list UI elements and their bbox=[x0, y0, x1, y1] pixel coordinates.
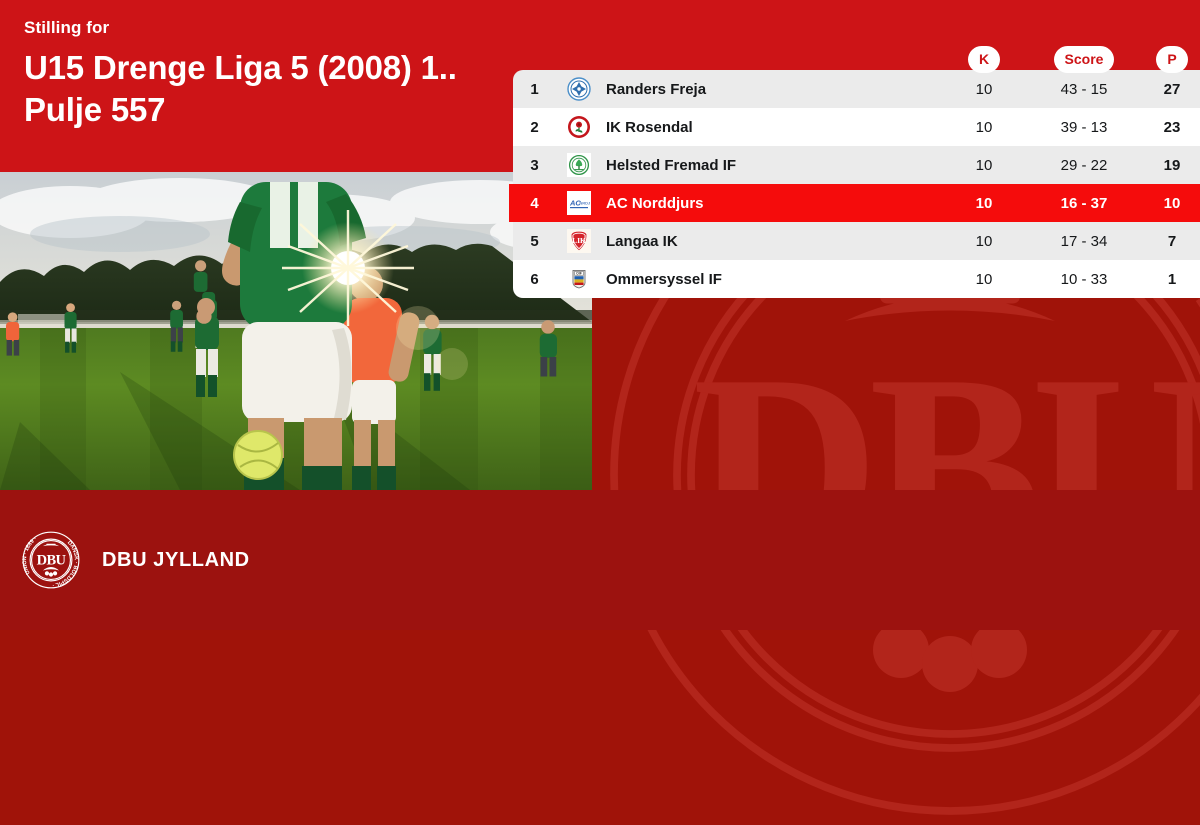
footer-org-name: DBU JYLLAND bbox=[102, 549, 250, 572]
table-row[interactable]: 6 OIF Ommersyssel IF 10 10 - 33 1 bbox=[513, 260, 1200, 298]
crest-randers-freja-icon bbox=[556, 77, 602, 101]
row-position: 4 bbox=[513, 195, 556, 212]
row-score: 43 - 15 bbox=[1024, 81, 1144, 98]
row-score: 39 - 13 bbox=[1024, 119, 1144, 136]
row-points: 23 bbox=[1144, 119, 1200, 136]
crest-ommersyssel-icon: OIF bbox=[556, 267, 602, 291]
row-matches-played: 10 bbox=[944, 157, 1024, 174]
crest-ik-rosendal-icon bbox=[556, 115, 602, 139]
column-header-score: Score bbox=[1024, 45, 1144, 73]
standings-table: 1 Randers Freja 10 43 - 15 27 2 bbox=[513, 70, 1200, 298]
row-score: 17 - 34 bbox=[1024, 233, 1144, 250]
row-score: 10 - 33 bbox=[1024, 271, 1144, 288]
row-matches-played: 10 bbox=[944, 119, 1024, 136]
row-team-name: Langaa IK bbox=[602, 233, 944, 250]
dbu-seal-icon: DANSK · BOLDSPIL · UNION · 1889 · DBU bbox=[22, 531, 80, 589]
svg-text:LIK: LIK bbox=[572, 236, 586, 245]
table-row[interactable]: 3 Helsted Fremad IF 10 29 - 22 19 bbox=[513, 146, 1200, 184]
crest-helsted-fremad-icon bbox=[556, 153, 602, 177]
crest-langaa-ik-icon: LIK bbox=[556, 229, 602, 253]
page-title: U15 Drenge Liga 5 (2008) 1.. Pulje 557 bbox=[24, 47, 560, 130]
svg-text:OIF: OIF bbox=[576, 272, 582, 276]
table-row[interactable]: 2 IK Rosendal 10 39 - 13 23 bbox=[513, 108, 1200, 146]
header-text-block: Stilling for U15 Drenge Liga 5 (2008) 1.… bbox=[0, 0, 560, 131]
youth-football-match-photo bbox=[0, 172, 592, 490]
header-kicker: Stilling for bbox=[24, 18, 560, 38]
row-position: 6 bbox=[513, 271, 556, 288]
row-matches-played: 10 bbox=[944, 233, 1024, 250]
row-position: 2 bbox=[513, 119, 556, 136]
page-title-line-2: Pulje 557 bbox=[24, 89, 560, 131]
row-team-name: IK Rosendal bbox=[602, 119, 944, 136]
crest-ac-norddjurs-icon: AC NRDJ bbox=[556, 191, 602, 215]
row-position: 1 bbox=[513, 81, 556, 98]
row-matches-played: 10 bbox=[944, 195, 1024, 212]
row-points: 19 bbox=[1144, 157, 1200, 174]
table-row[interactable]: 1 Randers Freja 10 43 - 15 27 bbox=[513, 70, 1200, 108]
row-points: 7 bbox=[1144, 233, 1200, 250]
row-points: 27 bbox=[1144, 81, 1200, 98]
table-row[interactable]: 5 LIK Langaa IK 10 17 - 34 7 bbox=[513, 222, 1200, 260]
row-score: 29 - 22 bbox=[1024, 157, 1144, 174]
table-row-highlighted[interactable]: 4 AC NRDJ AC Norddjurs 10 16 - 37 10 bbox=[509, 184, 1200, 222]
column-header-k: K bbox=[944, 45, 1024, 73]
row-matches-played: 10 bbox=[944, 271, 1024, 288]
row-team-name: Ommersyssel IF bbox=[602, 271, 944, 288]
row-team-name: AC Norddjurs bbox=[602, 195, 944, 212]
table-column-headers: K Score P bbox=[513, 45, 1200, 73]
footer-bar: DANSK · BOLDSPIL · UNION · 1889 · DBU DB… bbox=[0, 490, 1200, 630]
row-points: 1 bbox=[1144, 271, 1200, 288]
svg-text:NRDJ: NRDJ bbox=[579, 201, 590, 206]
column-header-p: P bbox=[1144, 45, 1200, 73]
row-matches-played: 10 bbox=[944, 81, 1024, 98]
row-team-name: Randers Freja bbox=[602, 81, 944, 98]
svg-text:DBU: DBU bbox=[37, 553, 67, 569]
row-position: 3 bbox=[513, 157, 556, 174]
row-points: 10 bbox=[1144, 195, 1200, 212]
row-position: 5 bbox=[513, 233, 556, 250]
row-score: 16 - 37 bbox=[1024, 195, 1144, 212]
row-team-name: Helsted Fremad IF bbox=[602, 157, 944, 174]
page-title-line-1: U15 Drenge Liga 5 (2008) 1.. bbox=[24, 47, 560, 89]
